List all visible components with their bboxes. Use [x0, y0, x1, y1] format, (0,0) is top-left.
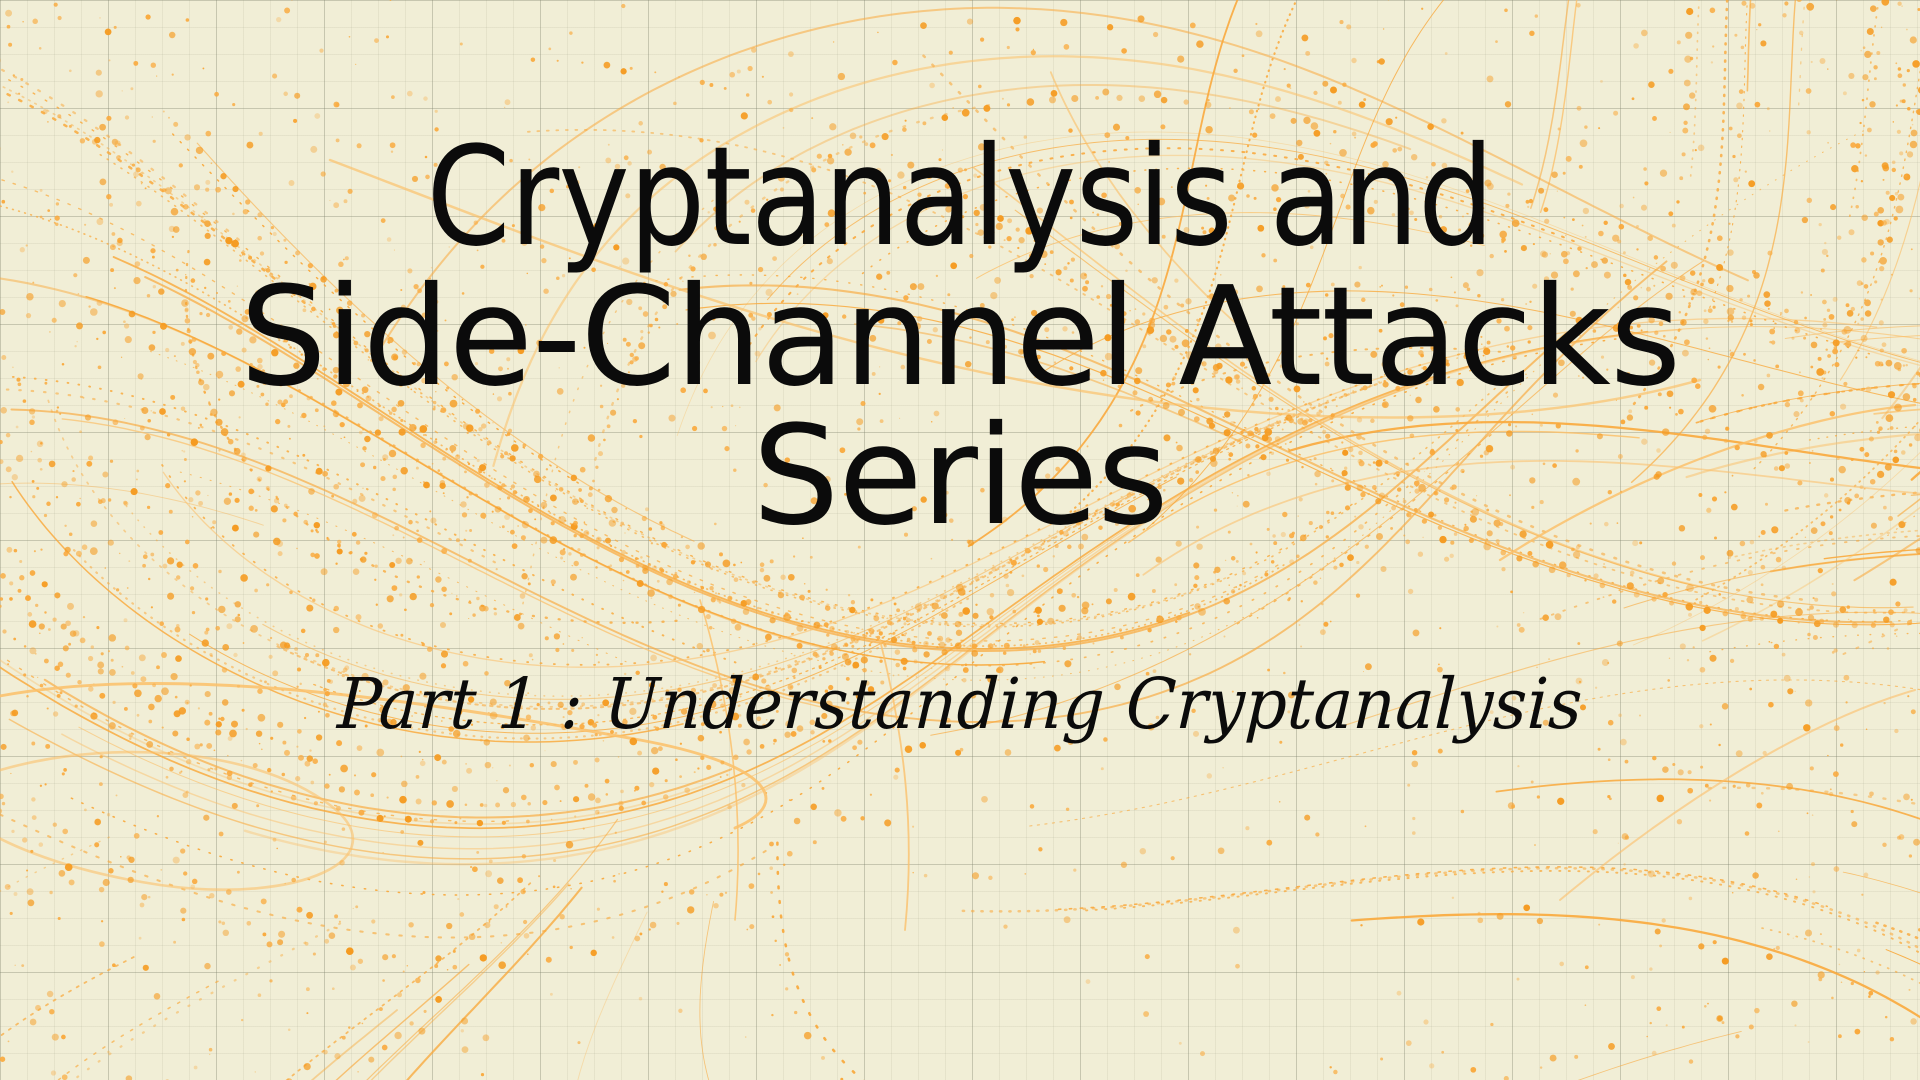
subtitle-container: Part 1 : Understanding Cryptanalysis: [210, 663, 1710, 745]
title-line-2: Side-Channel Attacks: [210, 268, 1710, 408]
title-line-1: Cryptanalysis and: [300, 128, 1620, 268]
decorative-flow-artwork: [0, 0, 1920, 1080]
title-line-3: Series: [210, 407, 1710, 547]
page-title: Cryptanalysis and Side-Channel Attacks S…: [210, 128, 1710, 547]
title-slide: Cryptanalysis and Side-Channel Attacks S…: [0, 0, 1920, 1080]
grid-minor-lines: [0, 0, 1920, 1080]
slide-content: Cryptanalysis and Side-Channel Attacks S…: [0, 0, 1920, 1080]
subtitle-text: Part 1 : Understanding Cryptanalysis: [336, 663, 1585, 745]
grid-major-lines: [0, 0, 1920, 1080]
